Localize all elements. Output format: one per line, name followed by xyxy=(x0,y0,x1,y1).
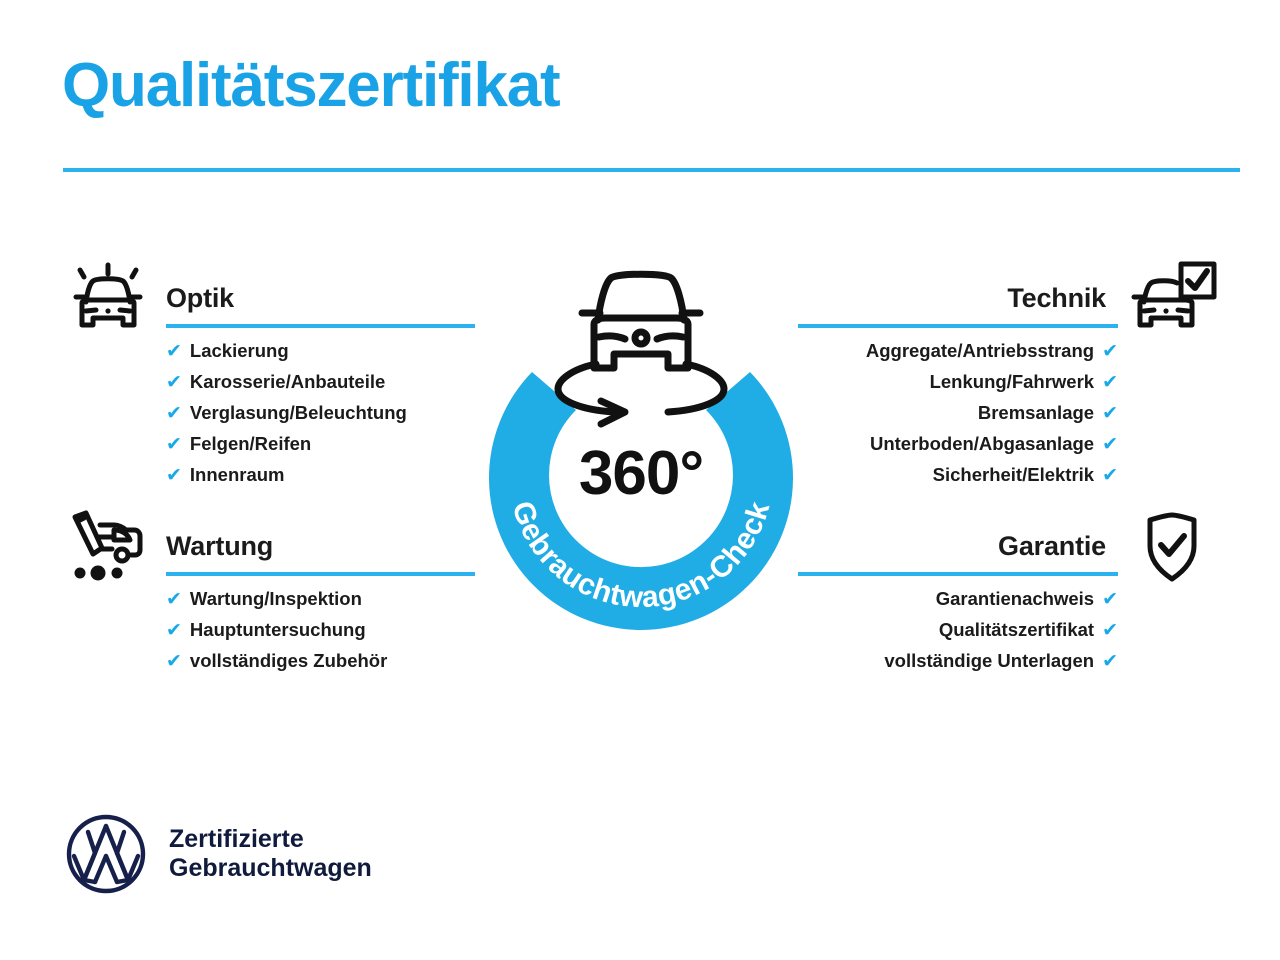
check-icon: ✔ xyxy=(1102,399,1118,429)
check-icon: ✔ xyxy=(166,368,182,398)
list-item: ✔Innenraum xyxy=(166,460,474,491)
list-item: Unterboden/Abgasanlage✔ xyxy=(798,429,1118,460)
list-item: ✔Karosserie/Anbauteile xyxy=(166,367,474,398)
list-item-label: vollständige Unterlagen xyxy=(884,646,1094,676)
check-icon: ✔ xyxy=(166,461,182,491)
header-divider xyxy=(63,168,1240,172)
check-icon: ✔ xyxy=(166,337,182,367)
check-icon: ✔ xyxy=(1102,647,1118,677)
list-item: vollständige Unterlagen✔ xyxy=(798,646,1118,677)
section-underline xyxy=(166,572,475,576)
list-item: Lenkung/Fahrwerk✔ xyxy=(798,367,1118,398)
list-item: ✔Lackierung xyxy=(166,336,474,367)
list-item-label: Wartung/Inspektion xyxy=(190,584,362,614)
section-title: Optik xyxy=(166,283,234,314)
check-icon: ✔ xyxy=(166,616,182,646)
car-checkbox-icon xyxy=(1126,258,1218,340)
section-item-list: Aggregate/Antriebsstrang✔ Lenkung/Fahrwe… xyxy=(798,336,1218,491)
vw-logo-icon xyxy=(64,812,148,896)
list-item-label: Karosserie/Anbauteile xyxy=(190,367,385,397)
check-icon: ✔ xyxy=(1102,430,1118,460)
section-underline xyxy=(798,324,1118,328)
list-item-label: Garantienachweis xyxy=(936,584,1094,614)
list-item: Sicherheit/Elektrik✔ xyxy=(798,460,1118,491)
check-icon: ✔ xyxy=(1102,616,1118,646)
check-icon: ✔ xyxy=(166,399,182,429)
section-technik: Technik Aggregate/Antriebsstrang✔ Lenkun… xyxy=(798,258,1218,491)
list-item: Bremsanlage✔ xyxy=(798,398,1118,429)
list-item-label: vollständiges Zubehör xyxy=(190,646,387,676)
list-item: Qualitätszertifikat✔ xyxy=(798,615,1118,646)
list-item-label: Sicherheit/Elektrik xyxy=(933,460,1094,490)
list-item: ✔vollständiges Zubehör xyxy=(166,646,474,677)
list-item-label: Qualitätszertifikat xyxy=(939,615,1094,645)
car-rotate-icon xyxy=(558,274,724,424)
section-header: Optik xyxy=(62,258,474,336)
section-item-list: Garantienachweis✔ Qualitätszertifikat✔ v… xyxy=(798,584,1218,677)
list-item: ✔Verglasung/Beleuchtung xyxy=(166,398,474,429)
brand-line-1: Zertifizierte xyxy=(169,825,304,853)
check-icon: ✔ xyxy=(166,585,182,615)
car-shine-icon xyxy=(62,256,154,338)
list-item: ✔Wartung/Inspektion xyxy=(166,584,474,615)
brand-lockup: Zertifizierte Gebrauchtwagen xyxy=(64,812,372,896)
page-title: Qualitätszertifikat xyxy=(62,54,559,117)
check-icon: ✔ xyxy=(166,430,182,460)
section-header: Garantie xyxy=(798,506,1218,584)
section-title: Wartung xyxy=(166,531,273,562)
list-item-label: Felgen/Reifen xyxy=(190,429,311,459)
section-title: Garantie xyxy=(998,531,1106,562)
list-item-label: Lenkung/Fahrwerk xyxy=(930,367,1094,397)
section-header: Wartung xyxy=(62,506,474,584)
check-icon: ✔ xyxy=(1102,368,1118,398)
list-item: ✔Felgen/Reifen xyxy=(166,429,474,460)
section-underline xyxy=(166,324,475,328)
section-optik: Optik ✔Lackierung ✔Karosserie/Anbauteile… xyxy=(62,258,474,491)
check-icon: ✔ xyxy=(166,647,182,677)
section-wartung: Wartung ✔Wartung/Inspektion ✔Hauptunters… xyxy=(62,506,474,677)
car-service-tool-icon xyxy=(62,504,154,586)
list-item-label: Verglasung/Beleuchtung xyxy=(190,398,407,428)
section-underline xyxy=(798,572,1118,576)
badge-value: 360° xyxy=(466,438,816,509)
certificate-page: Qualitätszertifikat Optik xyxy=(0,0,1280,960)
list-item-label: Lackierung xyxy=(190,336,289,366)
list-item: Garantienachweis✔ xyxy=(798,584,1118,615)
badge-360-check: Gebrauchtwagen-Check 360° xyxy=(466,252,816,642)
check-icon: ✔ xyxy=(1102,461,1118,491)
check-icon: ✔ xyxy=(1102,337,1118,367)
section-garantie: Garantie Garantienachweis✔ Qualitätszert… xyxy=(798,506,1218,677)
list-item-label: Aggregate/Antriebsstrang xyxy=(866,336,1094,366)
section-title: Technik xyxy=(1007,283,1106,314)
check-icon: ✔ xyxy=(1102,585,1118,615)
section-item-list: ✔Wartung/Inspektion ✔Hauptuntersuchung ✔… xyxy=(62,584,474,677)
brand-text: Zertifizierte Gebrauchtwagen xyxy=(169,825,372,884)
list-item: Aggregate/Antriebsstrang✔ xyxy=(798,336,1118,367)
section-item-list: ✔Lackierung ✔Karosserie/Anbauteile ✔Verg… xyxy=(62,336,474,491)
section-header: Technik xyxy=(798,258,1218,336)
brand-line-2: Gebrauchtwagen xyxy=(169,854,372,882)
list-item: ✔Hauptuntersuchung xyxy=(166,615,474,646)
list-item-label: Hauptuntersuchung xyxy=(190,615,366,645)
list-item-label: Innenraum xyxy=(190,460,285,490)
shield-check-icon xyxy=(1126,506,1218,588)
list-item-label: Unterboden/Abgasanlage xyxy=(870,429,1094,459)
list-item-label: Bremsanlage xyxy=(978,398,1094,428)
